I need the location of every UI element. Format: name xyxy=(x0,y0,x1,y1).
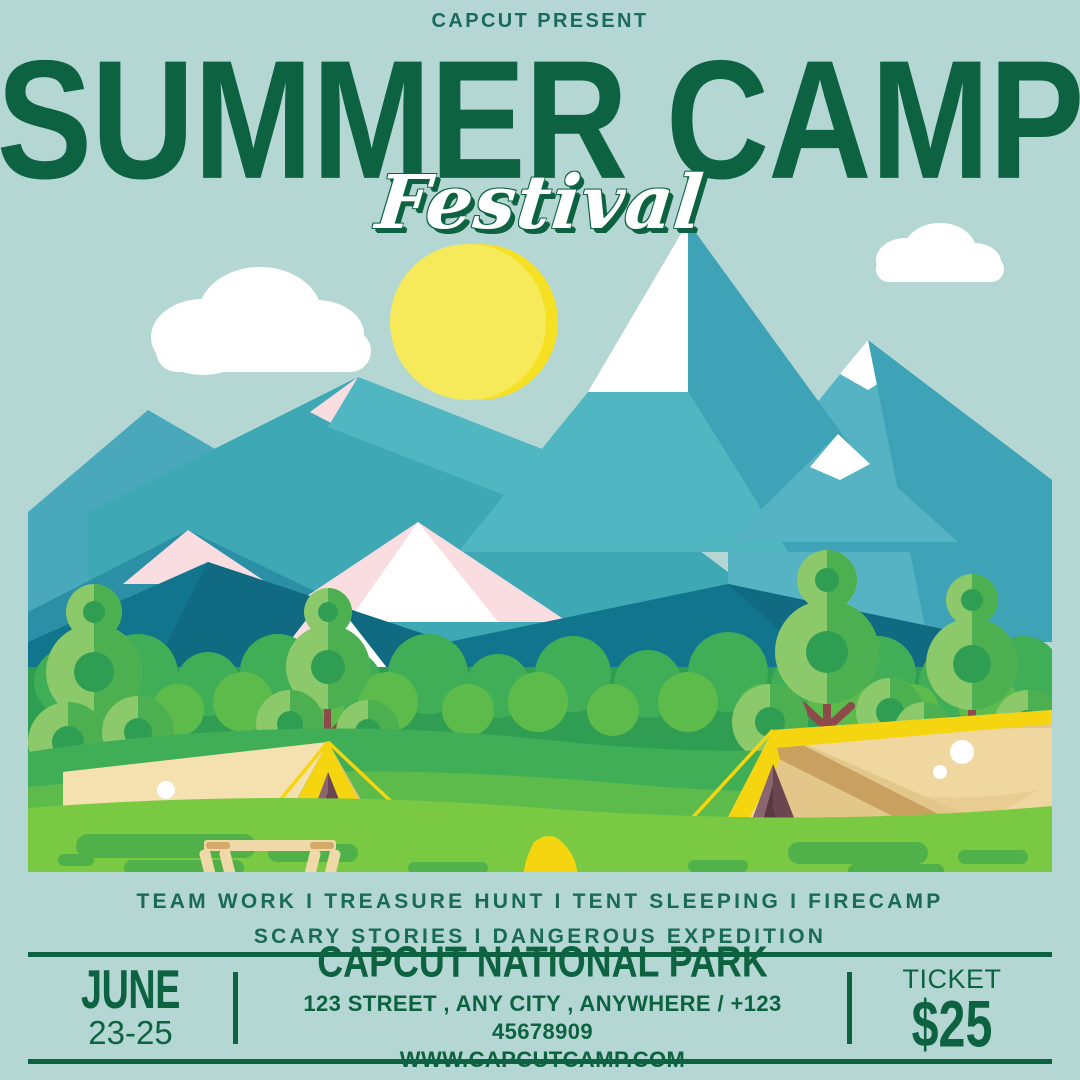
event-date: JUNE 23-25 xyxy=(28,966,233,1050)
venue-block: CAPCUT NATIONAL PARK 123 STREET , ANY CI… xyxy=(238,942,847,1074)
title-block: SUMMER CAMP Festival xyxy=(0,38,1080,213)
camp-illustration xyxy=(28,212,1052,872)
ticket-price: $25 xyxy=(864,991,1040,1057)
venue-name: CAPCUT NATIONAL PARK xyxy=(273,939,811,986)
activities-line-1: TEAM WORK I TREASURE HUNT I TENT SLEEPIN… xyxy=(0,884,1080,919)
venue-address: 123 STREET , ANY CITY , ANYWHERE / +123 … xyxy=(250,990,835,1046)
footer-bar: JUNE 23-25 CAPCUT NATIONAL PARK 123 STRE… xyxy=(28,957,1052,1059)
festival-script-word: Festival xyxy=(0,160,1080,246)
ticket-block: TICKET $25 xyxy=(852,965,1052,1052)
footer-rule-bottom xyxy=(28,1059,1052,1064)
sun-icon xyxy=(390,244,558,400)
event-month: JUNE xyxy=(46,962,214,1016)
event-days: 23-25 xyxy=(28,1016,233,1050)
